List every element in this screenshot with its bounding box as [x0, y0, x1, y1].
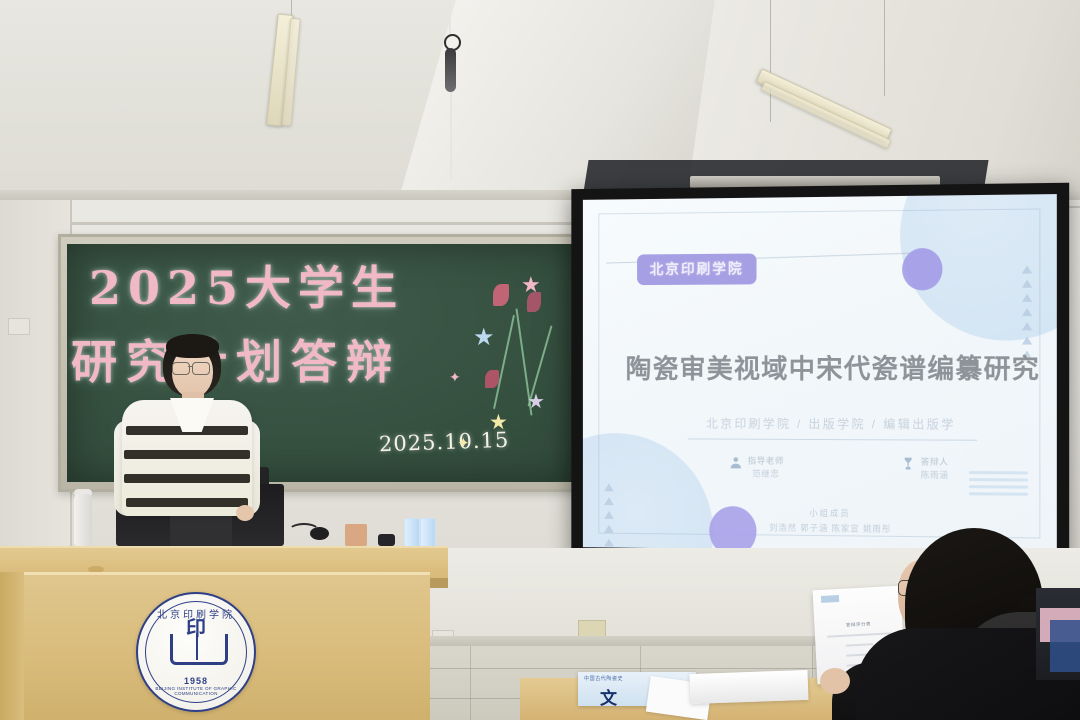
chalk-star-4: ★ — [527, 392, 545, 412]
paper-pile — [690, 670, 809, 704]
decor-line — [969, 485, 1028, 488]
presenter-fringe — [166, 334, 219, 358]
thermos-bottle — [74, 494, 92, 546]
chalk-petal-1 — [493, 284, 509, 306]
paper-text-line — [827, 632, 891, 637]
blue-folder — [1050, 620, 1080, 672]
decor-line — [969, 471, 1028, 474]
decor-line — [969, 478, 1028, 481]
book-cover-character: 文 — [600, 684, 620, 709]
classroom-photo-scene: 2025大学生 研究计划答辩 2025.10.15 ★ ★ ★ ★ ✦ ✦ — [0, 0, 1080, 720]
triangle-icon — [1022, 308, 1032, 316]
paper-text-line — [845, 643, 873, 646]
triangle-icon — [1022, 294, 1032, 302]
emblem-book-icon — [170, 634, 228, 665]
desk-microphone — [310, 527, 329, 540]
sweater-stripe — [124, 450, 250, 459]
floor-tile-line — [470, 646, 471, 720]
blackboard-line-2: 研究计划答辩 — [71, 326, 401, 392]
chalk-star-1: ★ — [473, 326, 495, 350]
paper-header-mark — [821, 595, 839, 603]
slide-advisor-role: 指导老师 — [748, 455, 784, 468]
light-wire-right-b — [884, 0, 885, 96]
chalk-topic: 研究计划答辩 — [71, 335, 401, 389]
slide-triangles-right — [1022, 265, 1032, 358]
triangle-icon — [604, 539, 614, 547]
wall-seam-horizontal — [72, 222, 578, 225]
triangle-icon — [604, 525, 614, 533]
slide-subtitle: 北京印刷学院 / 出版学院 / 编辑出版学 — [623, 414, 1042, 432]
triangle-icon — [1022, 322, 1032, 330]
water-bottle — [420, 518, 436, 548]
emblem-year: 1958 — [138, 676, 254, 686]
slide-lines-decor — [969, 471, 1028, 496]
decor-line — [969, 492, 1028, 496]
advisor-icon — [729, 455, 743, 471]
sweater-stripe — [124, 474, 250, 483]
emblem-english-name: BEIJING INSTITUTE OF GRAPHIC COMMUNICATI… — [138, 686, 254, 696]
slide-purple-circle-top — [902, 248, 942, 291]
desk-small-box — [345, 524, 367, 546]
desk-black-object — [378, 534, 395, 546]
triangle-icon — [604, 511, 614, 519]
ceiling — [0, 0, 1080, 205]
triangle-icon — [1022, 336, 1032, 344]
lectern-side-panel — [0, 572, 24, 720]
water-bottle — [404, 518, 420, 548]
microphone-cable-lower — [450, 92, 452, 178]
hanging-microphone — [445, 48, 456, 92]
glasses-icon — [192, 362, 210, 375]
slide-advisor-name: 范继忠 — [748, 467, 784, 480]
chalk-star-3: ★ — [489, 412, 508, 433]
slide-presenter-name: 陈雨涵 — [921, 469, 949, 482]
presenter-icon — [902, 455, 916, 471]
presenter-hand — [236, 505, 254, 521]
chalk-stem-1 — [493, 315, 515, 409]
slide-team-label: 小组成员 — [623, 505, 1042, 521]
triangle-icon — [604, 497, 614, 505]
slide-presenter-block: 答辩人 陈雨涵 — [902, 455, 949, 481]
slide-advisor-block: 指导老师 范继忠 — [729, 455, 784, 481]
triangle-icon — [1022, 280, 1032, 288]
slide-university-badge: 北京印刷学院 — [637, 253, 756, 285]
chalk-star-2: ★ — [521, 274, 541, 296]
paper-document-title: 答辩评分表 — [814, 620, 902, 631]
slide-triangles-left — [604, 483, 614, 553]
blackboard-line-1: 2025大学生 — [89, 252, 404, 318]
chalk-petal-3 — [485, 370, 499, 388]
slide-presenter-text: 答辩人 陈雨涵 — [921, 456, 949, 482]
projector-screen: 北京印刷学院 陶瓷审美视域中宋代瓷谱编纂研究 北京印刷学院 / 出版学院 / 编… — [571, 183, 1069, 566]
chalk-year: 2025大学生 — [89, 261, 404, 315]
monitor-stand — [170, 516, 232, 546]
microphone-cable — [449, 0, 451, 36]
triangle-icon — [1022, 265, 1032, 273]
chalk-star-6: ✦ — [449, 370, 461, 384]
chalk-star-5: ✦ — [457, 436, 470, 451]
slide-advisor-text: 指导老师 范继忠 — [748, 455, 784, 481]
wall-plate-left — [8, 318, 30, 335]
sweater-stripe — [126, 498, 248, 507]
glasses-icon — [172, 362, 190, 375]
presentation-slide: 北京印刷学院 陶瓷审美视域中宋代瓷谱编纂研究 北京印刷学院 / 出版学院 / 编… — [583, 194, 1057, 553]
slide-title: 陶瓷审美视域中宋代瓷谱编纂研究 — [623, 347, 1042, 387]
triangle-icon — [604, 483, 614, 491]
student-hand — [820, 668, 850, 694]
slide-presenter-role: 答辩人 — [921, 456, 949, 469]
book-small-title: 中国古代陶瓷史 — [584, 675, 623, 682]
university-emblem: 北京印刷学院 印 1958 BEIJING INSTITUTE OF GRAPH… — [136, 592, 256, 712]
light-wire-right-a — [770, 0, 771, 122]
slide-people-row: 指导老师 范继忠 答辩人 陈雨涵 — [729, 455, 949, 482]
glasses-bridge — [188, 366, 193, 367]
chalk-doodle-group: ★ ★ ★ ★ ✦ ✦ — [467, 274, 567, 454]
